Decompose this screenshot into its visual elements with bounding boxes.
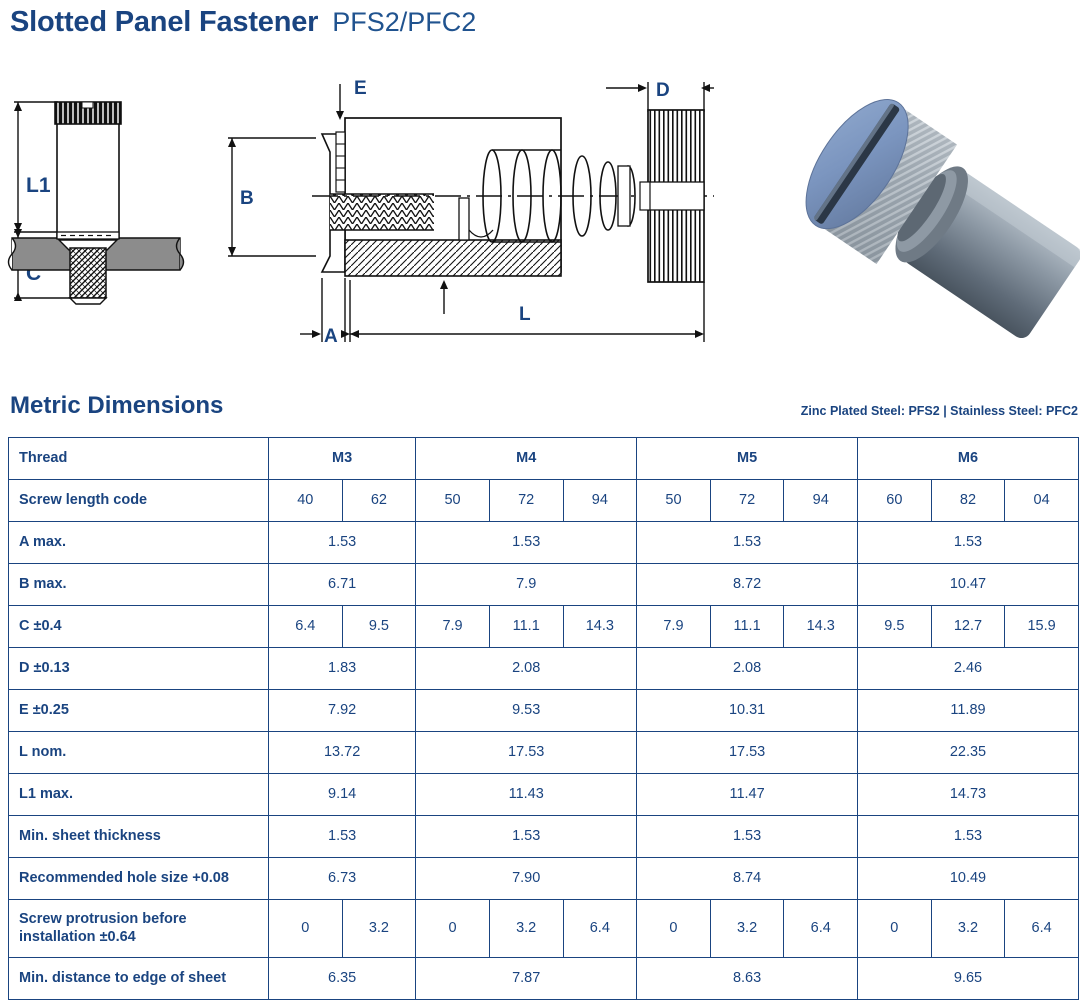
table-cell: 8.63 (637, 958, 858, 1000)
row-label: D ±0.13 (9, 648, 269, 690)
row-label: B max. (9, 564, 269, 606)
table-row: Min. sheet thickness1.531.531.531.53 (9, 816, 1079, 858)
table-cell: 9.53 (416, 690, 637, 732)
table-cell: 1.53 (637, 816, 858, 858)
dimension-label-B: B (240, 188, 254, 209)
table-cell: 3.2 (931, 900, 1005, 958)
dimension-label-L: L (519, 304, 531, 325)
table-cell: 8.72 (637, 564, 858, 606)
cross-section-drawing: E D (204, 70, 714, 350)
dimensions-table-wrapper: Thread M3M4M5M6 Screw length code4062507… (8, 437, 1078, 1000)
table-cell: 2.08 (416, 648, 637, 690)
table-row: Min. distance to edge of sheet6.357.878.… (9, 958, 1079, 1000)
table-body: Screw length code4062507294507294608204A… (9, 480, 1079, 1000)
table-cell: 6.4 (784, 900, 858, 958)
table-cell: 3.2 (489, 900, 563, 958)
table-cell: 11.1 (710, 606, 784, 648)
table-cell: 7.9 (637, 606, 711, 648)
table-cell: 50 (416, 480, 490, 522)
table-cell: 0 (637, 900, 711, 958)
table-cell: 0 (858, 900, 932, 958)
table-cell: 72 (710, 480, 784, 522)
table-cell: 1.53 (637, 522, 858, 564)
table-cell: 17.53 (637, 732, 858, 774)
row-label: Screw protrusion beforeinstallation ±0.6… (9, 900, 269, 958)
table-cell: 9.14 (269, 774, 416, 816)
page-title-part-numbers: PFS2/PFC2 (332, 7, 476, 38)
table-cell: 6.4 (269, 606, 343, 648)
table-row: D ±0.131.832.082.082.46 (9, 648, 1079, 690)
table-cell: 15.9 (1005, 606, 1079, 648)
row-label: L nom. (9, 732, 269, 774)
table-cell: 72 (489, 480, 563, 522)
section-heading: Metric Dimensions (10, 392, 223, 420)
table-row: Screw length code4062507294507294608204 (9, 480, 1079, 522)
installed-side-view-drawing: L1 C (4, 80, 200, 340)
table-cell: 7.87 (416, 958, 637, 1000)
table-cell: 82 (931, 480, 1005, 522)
row-label: Screw length code (9, 480, 269, 522)
table-header-row: Thread M3M4M5M6 (9, 438, 1079, 480)
datasheet-page: Slotted Panel Fastener PFS2/PFC2 (0, 0, 1086, 1007)
column-header-thread-m3: M3 (269, 438, 416, 480)
metric-dimensions-table: Thread M3M4M5M6 Screw length code4062507… (8, 437, 1079, 1000)
table-cell: 9.5 (858, 606, 932, 648)
table-cell: 1.53 (269, 522, 416, 564)
table-cell: 60 (858, 480, 932, 522)
table-cell: 2.46 (858, 648, 1079, 690)
table-cell: 6.71 (269, 564, 416, 606)
table-cell: 1.53 (416, 816, 637, 858)
table-cell: 17.53 (416, 732, 637, 774)
column-header-thread-m6: M6 (858, 438, 1079, 480)
page-title: Slotted Panel Fastener PFS2/PFC2 (10, 6, 476, 39)
table-cell: 40 (269, 480, 343, 522)
row-label-line-1: Screw protrusion before (19, 911, 262, 928)
material-note: Zinc Plated Steel: PFS2 | Stainless Stee… (801, 404, 1078, 418)
table-cell: 94 (784, 480, 858, 522)
table-row: C ±0.46.49.57.911.114.37.911.114.39.512.… (9, 606, 1079, 648)
table-cell: 14.3 (784, 606, 858, 648)
table-cell: 6.73 (269, 858, 416, 900)
product-photo (790, 70, 1080, 360)
table-cell: 3.2 (710, 900, 784, 958)
table-cell: 11.43 (416, 774, 637, 816)
page-title-main: Slotted Panel Fastener (10, 6, 318, 39)
table-row: B max.6.717.98.7210.47 (9, 564, 1079, 606)
table-cell: 11.89 (858, 690, 1079, 732)
table-cell: 7.92 (269, 690, 416, 732)
table-cell: 1.53 (858, 522, 1079, 564)
dimension-label-L1: L1 (26, 174, 51, 197)
table-cell: 12.7 (931, 606, 1005, 648)
table-cell: 7.9 (416, 606, 490, 648)
table-row: Recommended hole size +0.086.737.908.741… (9, 858, 1079, 900)
table-cell: 0 (269, 900, 343, 958)
table-cell: 7.9 (416, 564, 637, 606)
table-cell: 10.47 (858, 564, 1079, 606)
table-cell: 10.49 (858, 858, 1079, 900)
column-header-thread: Thread (9, 438, 269, 480)
dimension-label-D: D (656, 80, 670, 101)
table-cell: 11.47 (637, 774, 858, 816)
table-cell: 62 (342, 480, 416, 522)
table-row: E ±0.257.929.5310.3111.89 (9, 690, 1079, 732)
table-cell: 0 (416, 900, 490, 958)
table-row: L1 max.9.1411.4311.4714.73 (9, 774, 1079, 816)
column-header-thread-m5: M5 (637, 438, 858, 480)
table-cell: 2.08 (637, 648, 858, 690)
table-cell: 1.83 (269, 648, 416, 690)
table-cell: 6.4 (563, 900, 637, 958)
table-row: Screw protrusion beforeinstallation ±0.6… (9, 900, 1079, 958)
table-cell: 9.65 (858, 958, 1079, 1000)
row-label: Min. sheet thickness (9, 816, 269, 858)
table-cell: 94 (563, 480, 637, 522)
table-cell: 8.74 (637, 858, 858, 900)
row-label: E ±0.25 (9, 690, 269, 732)
table-cell: 10.31 (637, 690, 858, 732)
row-label-line-2: installation ±0.64 (19, 929, 262, 946)
table-cell: 11.1 (489, 606, 563, 648)
table-cell: 3.2 (342, 900, 416, 958)
table-cell: 9.5 (342, 606, 416, 648)
table-cell: 7.90 (416, 858, 637, 900)
table-cell: 04 (1005, 480, 1079, 522)
row-label: Recommended hole size +0.08 (9, 858, 269, 900)
row-label: L1 max. (9, 774, 269, 816)
table-row: L nom.13.7217.5317.5322.35 (9, 732, 1079, 774)
table-row: A max.1.531.531.531.53 (9, 522, 1079, 564)
table-cell: 1.53 (858, 816, 1079, 858)
table-cell: 6.4 (1005, 900, 1079, 958)
column-header-thread-m4: M4 (416, 438, 637, 480)
table-cell: 14.3 (563, 606, 637, 648)
dimension-label-E: E (354, 78, 367, 99)
row-label: Min. distance to edge of sheet (9, 958, 269, 1000)
row-label: C ±0.4 (9, 606, 269, 648)
row-label: A max. (9, 522, 269, 564)
table-header: Thread M3M4M5M6 (9, 438, 1079, 480)
dimension-label-A: A (324, 326, 338, 347)
table-cell: 14.73 (858, 774, 1079, 816)
table-cell: 1.53 (269, 816, 416, 858)
table-cell: 13.72 (269, 732, 416, 774)
table-cell: 50 (637, 480, 711, 522)
table-cell: 1.53 (416, 522, 637, 564)
figure-row: L1 C (0, 62, 1086, 362)
table-cell: 22.35 (858, 732, 1079, 774)
table-cell: 6.35 (269, 958, 416, 1000)
